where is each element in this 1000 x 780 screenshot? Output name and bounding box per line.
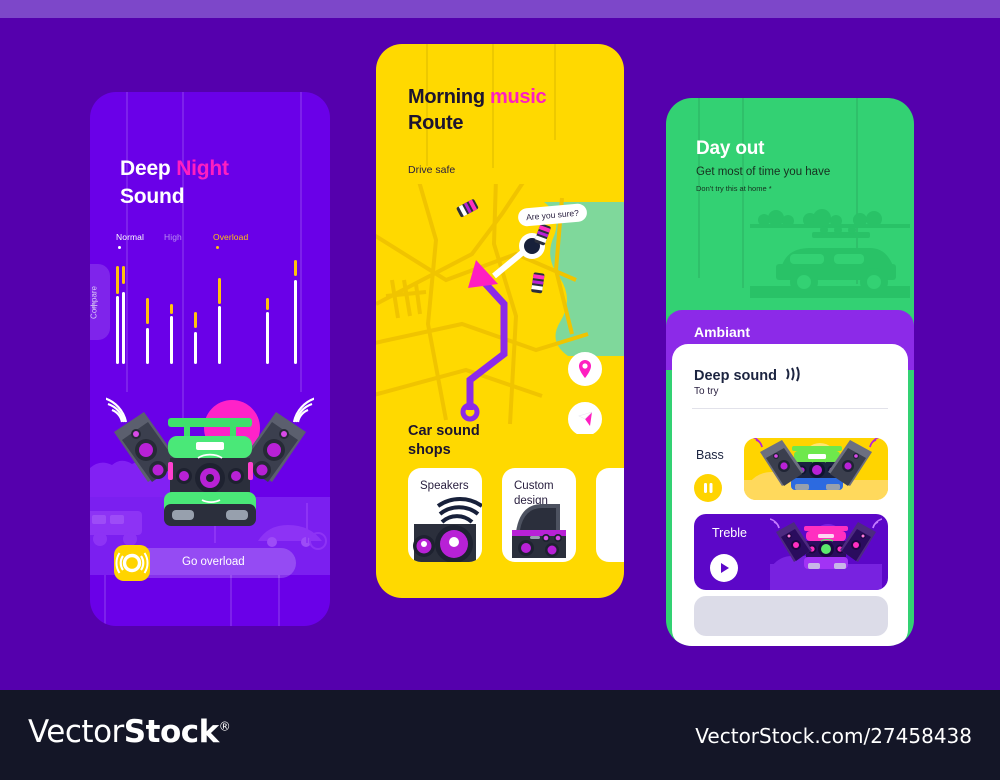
page-note: Don't try this at home * bbox=[696, 184, 772, 193]
map-canvas[interactable] bbox=[376, 184, 624, 434]
play-button-treble[interactable] bbox=[710, 554, 738, 582]
logo-suffix: Stock bbox=[124, 714, 219, 750]
sheet-header-label: Ambiant bbox=[694, 324, 750, 340]
panel-divider bbox=[692, 408, 888, 409]
section-title: Car sound shops bbox=[408, 422, 480, 460]
blue-car-speakers-illustration bbox=[744, 438, 888, 500]
pink-car-speakers-illustration bbox=[770, 514, 882, 590]
legend-dot-normal bbox=[118, 246, 121, 249]
panel-title: Deep sound bbox=[694, 366, 802, 384]
section-title-line2: shops bbox=[408, 442, 451, 458]
title-part-accent: Night bbox=[176, 157, 229, 180]
plus-icon[interactable]: + bbox=[90, 298, 98, 333]
screenshot-canvas: Deep Night Sound Normal High Overload bbox=[0, 0, 1000, 780]
car-speakers-illustration bbox=[106, 388, 314, 544]
page-subtitle: Drive safe bbox=[408, 164, 455, 176]
page-title: Day out bbox=[696, 138, 764, 160]
compare-tab[interactable]: Compare + bbox=[90, 264, 110, 340]
top-accent-strip bbox=[0, 0, 1000, 18]
go-overload-label: Go overload bbox=[182, 556, 245, 568]
offroad-truck-silhouette bbox=[750, 198, 910, 298]
panel-subtitle: To try bbox=[694, 386, 718, 397]
equalizer-legend: Normal High Overload bbox=[116, 232, 312, 254]
vectorstock-logo: VectorStock® bbox=[28, 714, 230, 750]
compass-needle-icon bbox=[571, 405, 599, 433]
page-title: Morning music Route bbox=[408, 84, 546, 136]
row-label-treble: Treble bbox=[712, 526, 747, 540]
artwork-canvas: Deep Night Sound Normal High Overload bbox=[0, 18, 1000, 690]
page-subtitle: Get most of time you have bbox=[696, 166, 830, 178]
deep-sound-panel[interactable]: Deep sound To try Bass bbox=[672, 344, 908, 646]
map-pin-icon bbox=[571, 355, 599, 383]
screen-deep-night-sound[interactable]: Deep Night Sound Normal High Overload bbox=[90, 92, 330, 626]
card-bass[interactable] bbox=[744, 438, 888, 500]
shop-card-next[interactable] bbox=[596, 468, 624, 562]
shop-card-custom-design[interactable]: Custom design bbox=[502, 468, 576, 562]
custom-car-audio-illustration bbox=[502, 468, 576, 562]
row-label-bass: Bass bbox=[696, 448, 724, 462]
title-part-2: Route bbox=[408, 112, 463, 134]
speaker-pair-illustration bbox=[408, 468, 482, 562]
play-icon bbox=[710, 554, 738, 582]
title-part-1: Deep bbox=[120, 157, 176, 180]
page-title: Deep Night Sound bbox=[120, 155, 229, 210]
legend-label-high: High bbox=[164, 232, 182, 242]
go-overload-button[interactable]: Go overload bbox=[116, 548, 296, 578]
pause-button-bass[interactable] bbox=[694, 474, 722, 502]
pause-icon bbox=[694, 474, 722, 502]
equalizer-widget[interactable]: Normal High Overload bbox=[116, 232, 312, 332]
screen-day-out[interactable]: Day out Get most of time you have Don't … bbox=[666, 98, 914, 646]
registered-mark: ® bbox=[219, 720, 231, 734]
route-map[interactable]: Are you sure? bbox=[376, 184, 624, 434]
legend-label-overload: Overload bbox=[213, 232, 248, 242]
logo-prefix: Vector bbox=[28, 714, 124, 750]
skeleton-row bbox=[694, 596, 888, 636]
vectorstock-url: VectorStock.com/27458438 bbox=[695, 724, 972, 748]
shop-card-speakers[interactable]: Speakers bbox=[408, 468, 482, 562]
title-part-1: Morning bbox=[408, 86, 490, 108]
map-pin-button[interactable] bbox=[568, 352, 602, 386]
sound-wave-icon bbox=[114, 545, 150, 581]
title-part-2: Sound bbox=[120, 185, 184, 208]
sound-wave-icon bbox=[784, 366, 802, 382]
title-part-accent: music bbox=[490, 86, 546, 108]
section-title-line1: Car sound bbox=[408, 423, 480, 439]
compass-button[interactable] bbox=[568, 402, 602, 434]
legend-label-normal: Normal bbox=[116, 232, 144, 242]
legend-dot-overload bbox=[216, 246, 219, 249]
equalizer-bars[interactable] bbox=[116, 258, 312, 388]
screen-morning-music-route[interactable]: Morning music Route Drive safe bbox=[376, 44, 624, 598]
card-treble[interactable]: Treble bbox=[694, 514, 888, 590]
vectorstock-watermark-bar: VectorStock® VectorStock.com/27458438 bbox=[0, 690, 1000, 780]
